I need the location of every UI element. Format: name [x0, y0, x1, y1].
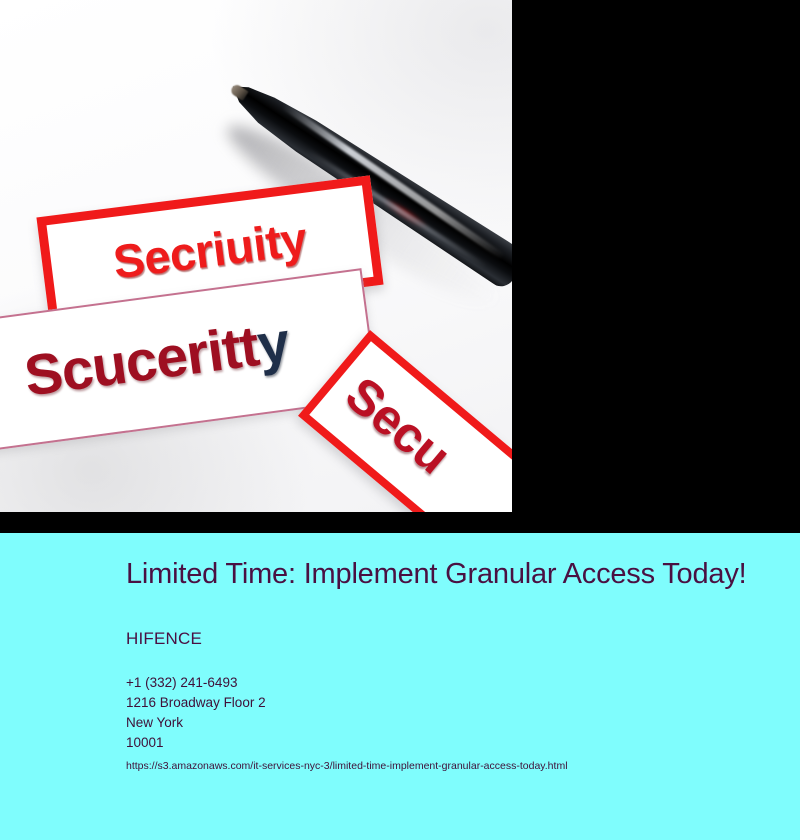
source-url[interactable]: https://s3.amazonaws.com/it-services-nyc… — [126, 760, 568, 772]
page-title: Limited Time: Implement Granular Access … — [126, 558, 766, 591]
page-root: Secriuity Scuceritty Secu Limited Time: … — [0, 0, 800, 840]
contact-zip: 10001 — [126, 733, 266, 753]
word-box-scuceritty-label: Scuceritty — [21, 309, 293, 410]
word-box-scuceritty-stem: Scuceritt — [21, 314, 262, 409]
promo-photo: Secriuity Scuceritty Secu — [0, 0, 512, 512]
promo-panel: Limited Time: Implement Granular Access … — [0, 533, 800, 840]
contact-street: 1216 Broadway Floor 2 — [126, 693, 266, 713]
contact-block: +1 (332) 241-6493 1216 Broadway Floor 2 … — [126, 673, 266, 753]
word-box-secriuity-label: Secriuity — [110, 210, 309, 289]
brand-name: HIFENCE — [126, 629, 202, 649]
contact-phone: +1 (332) 241-6493 — [126, 673, 266, 693]
contact-city: New York — [126, 713, 266, 733]
